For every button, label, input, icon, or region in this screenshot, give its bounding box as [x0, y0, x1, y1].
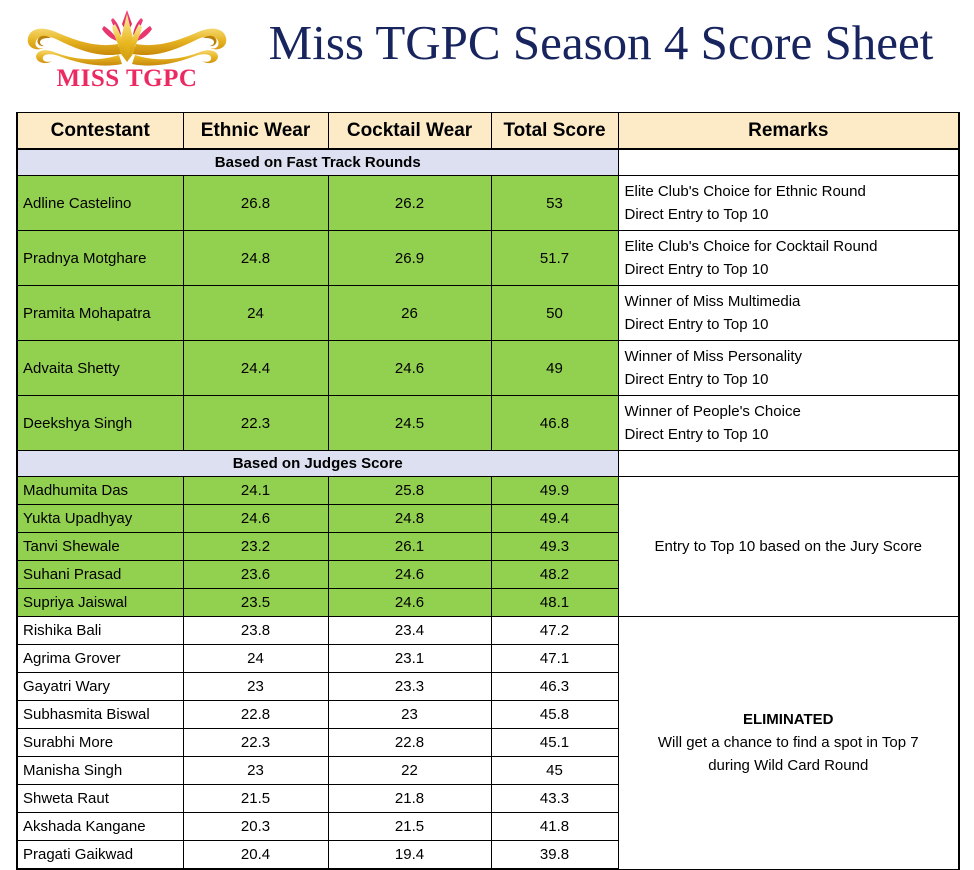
- table-row: Pramita Mohapatra 24 26 50 Winner of Mis…: [17, 286, 959, 341]
- remark-line: Winner of People's Choice: [625, 400, 955, 423]
- cell-cocktail-wear: 24.5: [328, 396, 491, 451]
- cell-contestant: Adline Castelino: [17, 176, 183, 231]
- score-sheet-table-container: Contestant Ethnic Wear Cocktail Wear Tot…: [16, 112, 958, 870]
- remark-line: Elite Club's Choice for Ethnic Round: [625, 180, 955, 203]
- cell-cocktail-wear: 26.2: [328, 176, 491, 231]
- table-row: Madhumita Das 24.1 25.8 49.9 Entry to To…: [17, 477, 959, 505]
- cell-ethnic-wear: 20.3: [183, 813, 328, 841]
- cell-total-score: 45.1: [491, 729, 618, 757]
- cell-ethnic-wear: 24.6: [183, 505, 328, 533]
- cell-ethnic-wear: 20.4: [183, 841, 328, 870]
- column-header-ethnic-wear: Ethnic Wear: [183, 113, 328, 150]
- cell-ethnic-wear: 24.1: [183, 477, 328, 505]
- cell-remarks: Winner of Miss Personality Direct Entry …: [618, 341, 959, 396]
- cell-ethnic-wear: 22.8: [183, 701, 328, 729]
- cell-cocktail-wear: 22.8: [328, 729, 491, 757]
- cell-total-score: 43.3: [491, 785, 618, 813]
- cell-total-score: 49: [491, 341, 618, 396]
- column-header-remarks: Remarks: [618, 113, 959, 150]
- cell-total-score: 45.8: [491, 701, 618, 729]
- cell-ethnic-wear: 22.3: [183, 729, 328, 757]
- section-band-remarks-blank: [618, 149, 959, 176]
- column-header-cocktail-wear: Cocktail Wear: [328, 113, 491, 150]
- table-header-row: Contestant Ethnic Wear Cocktail Wear Tot…: [17, 113, 959, 150]
- cell-remarks: Winner of Miss Multimedia Direct Entry t…: [618, 286, 959, 341]
- cell-ethnic-wear: 22.3: [183, 396, 328, 451]
- cell-ethnic-wear: 23.6: [183, 561, 328, 589]
- cell-contestant: Shweta Raut: [17, 785, 183, 813]
- cell-contestant: Pradnya Motghare: [17, 231, 183, 286]
- section-band-label: Based on Judges Score: [17, 451, 618, 477]
- remark-line: Will get a chance to find a spot in Top …: [623, 731, 955, 754]
- cell-ethnic-wear: 23.2: [183, 533, 328, 561]
- cell-ethnic-wear: 23: [183, 673, 328, 701]
- remark-line: Winner of Miss Multimedia: [625, 290, 955, 313]
- cell-total-score: 48.1: [491, 589, 618, 617]
- cell-contestant: Pramita Mohapatra: [17, 286, 183, 341]
- cell-remarks: Elite Club's Choice for Cocktail Round D…: [618, 231, 959, 286]
- cell-total-score: 46.3: [491, 673, 618, 701]
- section-band-judges-score: Based on Judges Score: [17, 451, 959, 477]
- cell-ethnic-wear: 24: [183, 645, 328, 673]
- section-band-label: Based on Fast Track Rounds: [17, 149, 618, 176]
- cell-cocktail-wear: 26: [328, 286, 491, 341]
- cell-contestant: Supriya Jaiswal: [17, 589, 183, 617]
- cell-ethnic-wear: 24.4: [183, 341, 328, 396]
- remark-line-eliminated: ELIMINATED: [623, 708, 955, 731]
- cell-cocktail-wear: 24.6: [328, 589, 491, 617]
- cell-remarks-group: Entry to Top 10 based on the Jury Score: [618, 477, 959, 617]
- cell-total-score: 49.4: [491, 505, 618, 533]
- cell-ethnic-wear: 23.8: [183, 617, 328, 645]
- page-header: MISS TGPC Miss TGPC Season 4 Score Sheet: [0, 0, 974, 110]
- cell-cocktail-wear: 25.8: [328, 477, 491, 505]
- cell-total-score: 45: [491, 757, 618, 785]
- cell-total-score: 47.2: [491, 617, 618, 645]
- cell-ethnic-wear: 24: [183, 286, 328, 341]
- remark-line: Entry to Top 10 based on the Jury Score: [623, 535, 955, 558]
- cell-ethnic-wear: 23.5: [183, 589, 328, 617]
- remark-line: during Wild Card Round: [623, 754, 955, 777]
- table-row: Deekshya Singh 22.3 24.5 46.8 Winner of …: [17, 396, 959, 451]
- cell-cocktail-wear: 23: [328, 701, 491, 729]
- cell-contestant: Akshada Kangane: [17, 813, 183, 841]
- remark-line: Direct Entry to Top 10: [625, 423, 955, 446]
- cell-contestant: Suhani Prasad: [17, 561, 183, 589]
- cell-contestant: Pragati Gaikwad: [17, 841, 183, 870]
- cell-contestant: Deekshya Singh: [17, 396, 183, 451]
- remark-line: Winner of Miss Personality: [625, 345, 955, 368]
- cell-contestant: Agrima Grover: [17, 645, 183, 673]
- cell-cocktail-wear: 21.5: [328, 813, 491, 841]
- cell-cocktail-wear: 24.6: [328, 341, 491, 396]
- cell-cocktail-wear: 23.4: [328, 617, 491, 645]
- cell-contestant: Yukta Upadhyay: [17, 505, 183, 533]
- cell-cocktail-wear: 23.3: [328, 673, 491, 701]
- miss-tgpc-logo: MISS TGPC: [18, 4, 236, 106]
- cell-total-score: 51.7: [491, 231, 618, 286]
- table-row: Advaita Shetty 24.4 24.6 49 Winner of Mi…: [17, 341, 959, 396]
- cell-cocktail-wear: 19.4: [328, 841, 491, 870]
- cell-total-score: 47.1: [491, 645, 618, 673]
- cell-cocktail-wear: 24.8: [328, 505, 491, 533]
- column-header-contestant: Contestant: [17, 113, 183, 150]
- section-band-fast-track: Based on Fast Track Rounds: [17, 149, 959, 176]
- cell-cocktail-wear: 23.1: [328, 645, 491, 673]
- logo-wordmark: MISS TGPC: [18, 66, 236, 91]
- remark-line: Direct Entry to Top 10: [625, 313, 955, 336]
- cell-cocktail-wear: 26.1: [328, 533, 491, 561]
- table-row: Pradnya Motghare 24.8 26.9 51.7 Elite Cl…: [17, 231, 959, 286]
- page-title: Miss TGPC Season 4 Score Sheet: [236, 16, 966, 71]
- cell-total-score: 41.8: [491, 813, 618, 841]
- cell-total-score: 46.8: [491, 396, 618, 451]
- cell-contestant: Rishika Bali: [17, 617, 183, 645]
- cell-contestant: Surabhi More: [17, 729, 183, 757]
- cell-ethnic-wear: 24.8: [183, 231, 328, 286]
- cell-total-score: 49.3: [491, 533, 618, 561]
- table-row: Adline Castelino 26.8 26.2 53 Elite Club…: [17, 176, 959, 231]
- section-band-remarks-blank: [618, 451, 959, 477]
- cell-total-score: 49.9: [491, 477, 618, 505]
- cell-contestant: Madhumita Das: [17, 477, 183, 505]
- table-body: Based on Fast Track Rounds Adline Castel…: [17, 149, 959, 869]
- cell-contestant: Advaita Shetty: [17, 341, 183, 396]
- column-header-total-score: Total Score: [491, 113, 618, 150]
- remark-line: Direct Entry to Top 10: [625, 368, 955, 391]
- cell-contestant: Tanvi Shewale: [17, 533, 183, 561]
- cell-total-score: 48.2: [491, 561, 618, 589]
- cell-ethnic-wear: 21.5: [183, 785, 328, 813]
- cell-remarks-group: ELIMINATED Will get a chance to find a s…: [618, 617, 959, 870]
- cell-ethnic-wear: 23: [183, 757, 328, 785]
- cell-cocktail-wear: 22: [328, 757, 491, 785]
- remark-line: Elite Club's Choice for Cocktail Round: [625, 235, 955, 258]
- cell-ethnic-wear: 26.8: [183, 176, 328, 231]
- cell-remarks: Elite Club's Choice for Ethnic Round Dir…: [618, 176, 959, 231]
- cell-cocktail-wear: 26.9: [328, 231, 491, 286]
- table-row: Rishika Bali 23.8 23.4 47.2 ELIMINATED W…: [17, 617, 959, 645]
- cell-total-score: 50: [491, 286, 618, 341]
- cell-total-score: 53: [491, 176, 618, 231]
- cell-remarks: Winner of People's Choice Direct Entry t…: [618, 396, 959, 451]
- cell-cocktail-wear: 24.6: [328, 561, 491, 589]
- cell-contestant: Gayatri Wary: [17, 673, 183, 701]
- cell-contestant: Manisha Singh: [17, 757, 183, 785]
- cell-cocktail-wear: 21.8: [328, 785, 491, 813]
- remark-line: Direct Entry to Top 10: [625, 258, 955, 281]
- cell-contestant: Subhasmita Biswal: [17, 701, 183, 729]
- remark-line: Direct Entry to Top 10: [625, 203, 955, 226]
- cell-total-score: 39.8: [491, 841, 618, 870]
- score-sheet-table: Contestant Ethnic Wear Cocktail Wear Tot…: [16, 112, 960, 870]
